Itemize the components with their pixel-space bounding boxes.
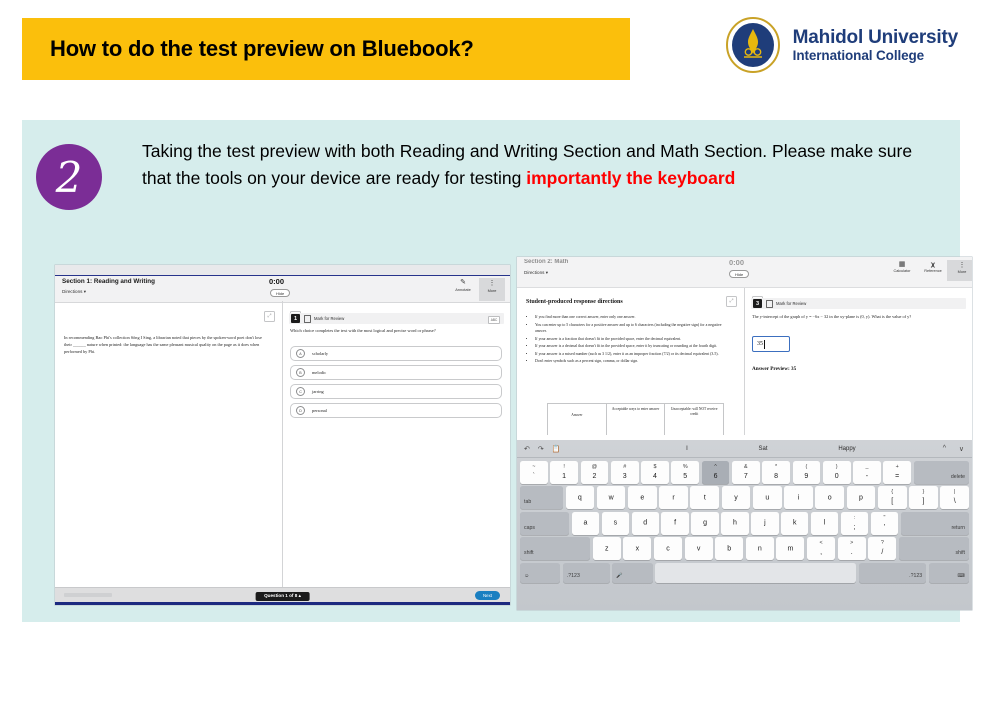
key-quote[interactable]: "' bbox=[871, 512, 898, 535]
key-label: d bbox=[632, 520, 659, 527]
window-topbar bbox=[55, 265, 510, 276]
logo-line-1: Mahidol University bbox=[793, 27, 958, 48]
rw-question-header: 1 Mark for Review ABC bbox=[289, 313, 504, 324]
rw-passage-pane: ⤢ In recommending Bao Phi's collection S… bbox=[55, 301, 283, 588]
key-label: l bbox=[811, 520, 838, 527]
page-title: How to do the test preview on Bluebook? bbox=[50, 36, 474, 62]
key-label: z bbox=[593, 545, 621, 552]
chevron-down-icon[interactable]: ∨ bbox=[959, 445, 964, 453]
logo-line-2: International College bbox=[793, 48, 958, 63]
microphone-icon: 🎤 bbox=[616, 573, 622, 579]
rw-section-title: Section 1: Reading and Writing bbox=[62, 278, 155, 285]
question-counter-button[interactable]: Question 1 of 8 ▴ bbox=[255, 592, 310, 601]
emoji-icon: ☺ bbox=[524, 573, 529, 579]
key-6[interactable]: ^6 bbox=[702, 461, 730, 484]
key-label: return bbox=[951, 525, 965, 531]
math-answer-format-table: Answer Acceptable ways to enter answer U… bbox=[547, 403, 724, 435]
key-7[interactable]: &7 bbox=[732, 461, 760, 484]
key-shift-right[interactable]: shift bbox=[899, 537, 969, 560]
step-number-badge: 2 bbox=[36, 144, 102, 210]
key-v[interactable]: v bbox=[685, 537, 713, 560]
choice-bubble: B bbox=[296, 368, 305, 377]
rw-hide-button[interactable]: Hide bbox=[270, 289, 290, 297]
math-more-button[interactable]: ⋮ More bbox=[947, 260, 972, 281]
math-directions-pane: ⤢ Student-produced response directions I… bbox=[517, 288, 745, 435]
key-shift-label: $ bbox=[641, 464, 669, 470]
key-label: 4 bbox=[641, 473, 669, 480]
onscreen-keyboard: ↶ ↷ 📋 I Sat Happy ^ ∨ ~` !1 @2 #3 $4 %5 bbox=[517, 440, 972, 610]
annotate-icon: ✎ bbox=[450, 278, 476, 287]
key-shift-label: @ bbox=[581, 464, 609, 470]
math-split-view: ⤢ Student-produced response directions I… bbox=[517, 288, 972, 435]
key-label: tab bbox=[524, 499, 531, 505]
more-icon: ⋮ bbox=[947, 261, 972, 270]
suggestion-3[interactable]: Happy bbox=[827, 446, 867, 452]
math-question-pane: ⤢ 3 Mark for Review The y-intercept of t… bbox=[745, 288, 972, 435]
key-shift-label: ) bbox=[823, 464, 851, 470]
content-panel: 2 Taking the test preview with both Read… bbox=[22, 120, 960, 622]
key-label: x bbox=[623, 545, 651, 552]
chevron-up-icon[interactable]: ^ bbox=[943, 445, 946, 452]
key-f[interactable]: f bbox=[661, 512, 688, 535]
reference-icon: 𝛘 bbox=[918, 260, 948, 269]
key-d[interactable]: d bbox=[632, 512, 659, 535]
key-1[interactable]: !1 bbox=[550, 461, 578, 484]
key-shift-label: ^ bbox=[702, 464, 730, 470]
key-s[interactable]: s bbox=[602, 512, 629, 535]
rw-more-label: More bbox=[479, 288, 505, 293]
key-shift-label: ~ bbox=[520, 464, 548, 470]
table-header-cell: Acceptable ways to enter answer bbox=[607, 404, 666, 435]
rw-mark-for-review-label: Mark for Review bbox=[314, 316, 344, 321]
suggestion-2[interactable]: Sat bbox=[745, 446, 781, 452]
key-semicolon[interactable]: :; bbox=[841, 512, 868, 535]
key-label: shift bbox=[524, 550, 534, 556]
key-return[interactable]: return bbox=[901, 512, 969, 535]
more-icon: ⋮ bbox=[479, 279, 505, 288]
math-more-label: More bbox=[947, 270, 972, 274]
logo-text: Mahidol University International College bbox=[793, 27, 958, 63]
key-label: . bbox=[838, 549, 866, 556]
math-timer: 0:00 bbox=[729, 258, 744, 267]
rw-question-pane: ⤢ 1 Mark for Review ABC Which choice com… bbox=[283, 301, 510, 588]
math-hide-button[interactable]: Hide bbox=[729, 270, 749, 278]
rw-split-view: ⤢ In recommending Bao Phi's collection S… bbox=[55, 301, 510, 588]
answer-choice-a[interactable]: A scholarly bbox=[290, 346, 502, 361]
direction-item: If your answer is a fraction that doesn'… bbox=[535, 336, 732, 342]
key-bracket-left[interactable]: {[ bbox=[878, 486, 907, 509]
key-shift-label: ( bbox=[793, 464, 821, 470]
key-q[interactable]: q bbox=[566, 486, 595, 509]
choice-bubble: A bbox=[296, 349, 305, 358]
rw-header: Section 1: Reading and Writing Direction… bbox=[55, 276, 510, 303]
key-label: q bbox=[566, 494, 595, 501]
keyboard-dismiss-icon: ⌨ bbox=[958, 573, 966, 579]
key-space[interactable] bbox=[655, 563, 856, 583]
key-label: p bbox=[847, 494, 876, 501]
math-directions-list: If you find more than one correct answer… bbox=[528, 314, 732, 366]
key-label: t bbox=[690, 494, 719, 501]
key-label: 0 bbox=[823, 473, 851, 480]
key-label: 7 bbox=[732, 473, 760, 480]
key-4[interactable]: $4 bbox=[641, 461, 669, 484]
key-label: ' bbox=[871, 524, 898, 531]
key-g[interactable]: g bbox=[691, 512, 718, 535]
redo-icon[interactable]: ↷ bbox=[538, 445, 544, 453]
direction-item: If you find more than one correct answer… bbox=[535, 314, 732, 320]
text-caret bbox=[764, 340, 765, 349]
key-u[interactable]: u bbox=[753, 486, 782, 509]
key-o[interactable]: o bbox=[815, 486, 844, 509]
key-numeric-left[interactable]: .?123 bbox=[563, 563, 610, 583]
key-shift-label: * bbox=[762, 464, 790, 470]
slide-header: How to do the test preview on Bluebook? … bbox=[0, 0, 1000, 112]
choice-bubble: D bbox=[296, 406, 305, 415]
key-bracket-right[interactable]: }] bbox=[909, 486, 938, 509]
direction-item: If your answer is a mixed number (such a… bbox=[535, 351, 732, 357]
key-shift-label: } bbox=[909, 489, 938, 495]
key-label: b bbox=[715, 545, 743, 552]
key-label: 5 bbox=[671, 473, 699, 480]
direction-item: You can enter up to 5 characters for a p… bbox=[535, 322, 732, 335]
suggestion-1[interactable]: I bbox=[669, 446, 705, 452]
key-numeric-right[interactable]: .?123 bbox=[859, 563, 926, 583]
key-0[interactable]: )0 bbox=[823, 461, 851, 484]
expand-directions-icon[interactable]: ⤢ bbox=[726, 296, 737, 307]
key-label: 9 bbox=[793, 473, 821, 480]
keyboard-suggestion-bar: ↶ ↷ 📋 I Sat Happy ^ ∨ bbox=[517, 440, 972, 458]
key-label: 3 bbox=[611, 473, 639, 480]
key-j[interactable]: j bbox=[751, 512, 778, 535]
step-text-highlight: importantly the keyboard bbox=[526, 168, 735, 188]
key-label: s bbox=[602, 520, 629, 527]
key-label: shift bbox=[955, 550, 965, 556]
key-r[interactable]: r bbox=[659, 486, 688, 509]
chevron-down-icon: ▾ bbox=[546, 270, 548, 275]
key-8[interactable]: *8 bbox=[762, 461, 790, 484]
key-label: g bbox=[691, 520, 718, 527]
key-label: h bbox=[721, 520, 748, 527]
key-2[interactable]: @2 bbox=[581, 461, 609, 484]
key-label: \ bbox=[940, 498, 969, 505]
table-header-cell: Answer bbox=[548, 404, 607, 435]
key-5[interactable]: %5 bbox=[671, 461, 699, 484]
key-a[interactable]: a bbox=[572, 512, 599, 535]
key-comma[interactable]: <, bbox=[807, 537, 835, 560]
key-label: .?123 bbox=[909, 573, 922, 579]
math-answer-preview: Answer Preview: 35 bbox=[752, 366, 796, 372]
math-question-header: 3 Mark for Review bbox=[751, 298, 966, 309]
footer-accent-rule bbox=[55, 602, 510, 605]
key-shift-label: | bbox=[940, 489, 969, 495]
key-label: = bbox=[883, 473, 911, 480]
key-label: u bbox=[753, 494, 782, 501]
mark-for-review-checkbox[interactable] bbox=[766, 300, 773, 308]
key-minus[interactable]: _- bbox=[853, 461, 881, 484]
key-backslash[interactable]: |\ bbox=[940, 486, 969, 509]
key-shift-label: & bbox=[732, 464, 760, 470]
math-section-title: Section 2: Math bbox=[524, 259, 568, 265]
key-shift-label: > bbox=[838, 540, 866, 546]
key-label: 1 bbox=[550, 473, 578, 480]
key-shift-label: { bbox=[878, 489, 907, 495]
key-shift-label: # bbox=[611, 464, 639, 470]
key-x[interactable]: x bbox=[623, 537, 651, 560]
key-label: v bbox=[685, 545, 713, 552]
keyboard-row-bottom: ☺ .?123 🎤 .?123 ⌨ bbox=[517, 563, 972, 583]
key-microphone[interactable]: 🎤 bbox=[612, 563, 652, 583]
key-shift-label: ! bbox=[550, 464, 578, 470]
choice-text: scholarly bbox=[312, 351, 328, 356]
answer-choice-d[interactable]: D personal bbox=[290, 403, 502, 418]
key-equals[interactable]: += bbox=[883, 461, 911, 484]
key-label: n bbox=[746, 545, 774, 552]
key-label: a bbox=[572, 520, 599, 527]
key-shift-label: " bbox=[871, 515, 898, 521]
rw-question-stem: Which choice completes the text with the… bbox=[290, 328, 500, 335]
keyboard-row-home: caps a s d f g h j k l :; "' return bbox=[517, 512, 972, 535]
paste-icon[interactable]: 📋 bbox=[552, 445, 561, 453]
key-delete[interactable]: delete bbox=[914, 461, 969, 484]
key-shift-label: % bbox=[671, 464, 699, 470]
key-tab[interactable]: tab bbox=[520, 486, 563, 509]
key-9[interactable]: (9 bbox=[793, 461, 821, 484]
rw-passage-text: In recommending Bao Phi's collection Sôn… bbox=[64, 335, 269, 356]
key-3[interactable]: #3 bbox=[611, 461, 639, 484]
math-reference-label: Reference bbox=[918, 269, 948, 273]
rw-footer: Question 1 of 8 ▴ Next bbox=[55, 587, 510, 605]
student-name-placeholder bbox=[64, 593, 112, 597]
key-shift-left[interactable]: shift bbox=[520, 537, 590, 560]
key-label: m bbox=[776, 545, 804, 552]
rw-answer-choices: A scholarly B melodic C jarring D bbox=[290, 346, 502, 422]
title-band: How to do the test preview on Bluebook? bbox=[22, 18, 630, 80]
key-label: ; bbox=[841, 524, 868, 531]
math-mark-for-review-label: Mark for Review bbox=[776, 301, 806, 306]
key-label: caps bbox=[524, 525, 535, 531]
key-label: / bbox=[868, 549, 896, 556]
rw-annotate-button[interactable]: ✎ Annotate bbox=[450, 278, 476, 292]
key-c[interactable]: c bbox=[654, 537, 682, 560]
bluebook-reading-writing-screenshot: Section 1: Reading and Writing Direction… bbox=[55, 265, 510, 605]
choice-text: personal bbox=[312, 408, 327, 413]
university-seal-icon bbox=[725, 16, 781, 74]
table-header-cell: Unacceptable: will NOT receive credit bbox=[665, 404, 723, 435]
key-shift-label: ? bbox=[868, 540, 896, 546]
key-e[interactable]: e bbox=[628, 486, 657, 509]
chevron-up-icon: ▴ bbox=[299, 593, 301, 598]
key-label: .?123 bbox=[567, 573, 580, 579]
key-l[interactable]: l bbox=[811, 512, 838, 535]
key-shift-label: : bbox=[841, 515, 868, 521]
key-y[interactable]: y bbox=[722, 486, 751, 509]
keyboard-row-qwerty: tab q w e r t y u i o p {[ }] |\ bbox=[517, 486, 972, 509]
key-m[interactable]: m bbox=[776, 537, 804, 560]
key-label: delete bbox=[951, 474, 965, 480]
expand-passage-icon[interactable]: ⤢ bbox=[264, 311, 275, 322]
key-caps-lock[interactable]: caps bbox=[520, 512, 569, 535]
choice-bubble: C bbox=[296, 387, 305, 396]
step-description: Taking the test preview with both Readin… bbox=[142, 138, 942, 191]
key-label: o bbox=[815, 494, 844, 501]
key-p[interactable]: p bbox=[847, 486, 876, 509]
answer-choice-b[interactable]: B melodic bbox=[290, 365, 502, 380]
key-label: w bbox=[597, 494, 626, 501]
abc-icon[interactable]: ABC bbox=[488, 316, 500, 324]
key-b[interactable]: b bbox=[715, 537, 743, 560]
key-label: e bbox=[628, 494, 657, 501]
choice-text: jarring bbox=[312, 389, 324, 394]
key-backtick[interactable]: ~` bbox=[520, 461, 548, 484]
next-button[interactable]: Next bbox=[475, 591, 500, 600]
rw-annotate-label: Annotate bbox=[450, 287, 476, 292]
math-reference-button[interactable]: 𝛘 Reference bbox=[918, 260, 948, 273]
key-label: [ bbox=[878, 498, 907, 505]
key-emoji[interactable]: ☺ bbox=[520, 563, 560, 583]
rw-directions-label: Directions bbox=[62, 289, 82, 294]
direction-item: If your answer is a decimal that doesn't… bbox=[535, 343, 732, 349]
keyboard-row-shift: shift z x c v b n m <, >. ?/ shift bbox=[517, 537, 972, 560]
rw-timer: 0:00 bbox=[269, 277, 284, 286]
university-logo: Mahidol University International College bbox=[725, 14, 958, 76]
math-calculator-button[interactable]: ▦ Calculator bbox=[887, 260, 917, 273]
key-shift-label: < bbox=[807, 540, 835, 546]
math-question-number: 3 bbox=[753, 299, 762, 308]
math-header: Section 2: Math Directions ▾ 0:00 Hide ▦… bbox=[517, 257, 972, 288]
key-label: , bbox=[807, 549, 835, 556]
math-directions-label: Directions bbox=[524, 270, 544, 275]
key-label: i bbox=[784, 494, 813, 501]
key-t[interactable]: t bbox=[690, 486, 719, 509]
direction-item: Don't enter symbols such as a percent si… bbox=[535, 358, 732, 364]
key-label: f bbox=[661, 520, 688, 527]
key-label: k bbox=[781, 520, 808, 527]
key-shift-label: _ bbox=[853, 464, 881, 470]
key-dismiss-keyboard[interactable]: ⌨ bbox=[929, 563, 969, 583]
key-label: 2 bbox=[581, 473, 609, 480]
screenshots-row: Section 1: Reading and Writing Direction… bbox=[36, 265, 946, 610]
key-label: y bbox=[722, 494, 751, 501]
calculator-icon: ▦ bbox=[887, 260, 917, 269]
key-n[interactable]: n bbox=[746, 537, 774, 560]
undo-icon[interactable]: ↶ bbox=[524, 445, 530, 453]
key-i[interactable]: i bbox=[784, 486, 813, 509]
key-label: - bbox=[853, 473, 881, 480]
rw-question-number: 1 bbox=[291, 314, 300, 323]
key-label: 6 bbox=[702, 473, 730, 480]
key-label: r bbox=[659, 494, 688, 501]
keyboard-row-numbers: ~` !1 @2 #3 $4 %5 ^6 &7 *8 (9 )0 _- += d… bbox=[517, 461, 972, 484]
choice-text: melodic bbox=[312, 370, 326, 375]
key-slash[interactable]: ?/ bbox=[868, 537, 896, 560]
math-answer-value: 35 bbox=[757, 341, 763, 347]
chevron-down-icon: ▾ bbox=[84, 289, 86, 294]
bluebook-math-screenshot: Section 2: Math Directions ▾ 0:00 Hide ▦… bbox=[517, 257, 972, 610]
mark-for-review-checkbox[interactable] bbox=[304, 315, 311, 323]
key-z[interactable]: z bbox=[593, 537, 621, 560]
math-question-stem: The y-intercept of the graph of y = −6x … bbox=[752, 314, 963, 321]
key-label: ` bbox=[520, 473, 548, 480]
key-label: j bbox=[751, 520, 778, 527]
key-k[interactable]: k bbox=[781, 512, 808, 535]
answer-choice-c[interactable]: C jarring bbox=[290, 384, 502, 399]
math-answer-input[interactable]: 35 bbox=[752, 336, 790, 352]
math-directions-button[interactable]: Directions ▾ bbox=[524, 270, 548, 276]
key-shift-label: + bbox=[883, 464, 911, 470]
key-h[interactable]: h bbox=[721, 512, 748, 535]
key-w[interactable]: w bbox=[597, 486, 626, 509]
rw-directions-button[interactable]: Directions ▾ bbox=[62, 289, 86, 295]
math-directions-title: Student-produced response directions bbox=[526, 299, 623, 305]
key-label: c bbox=[654, 545, 682, 552]
question-counter-label: Question 1 of 8 bbox=[264, 593, 297, 598]
math-calculator-label: Calculator bbox=[887, 269, 917, 273]
key-period[interactable]: >. bbox=[838, 537, 866, 560]
rw-more-button[interactable]: ⋮ More bbox=[479, 278, 505, 301]
key-label: 8 bbox=[762, 473, 790, 480]
key-label: ] bbox=[909, 498, 938, 505]
